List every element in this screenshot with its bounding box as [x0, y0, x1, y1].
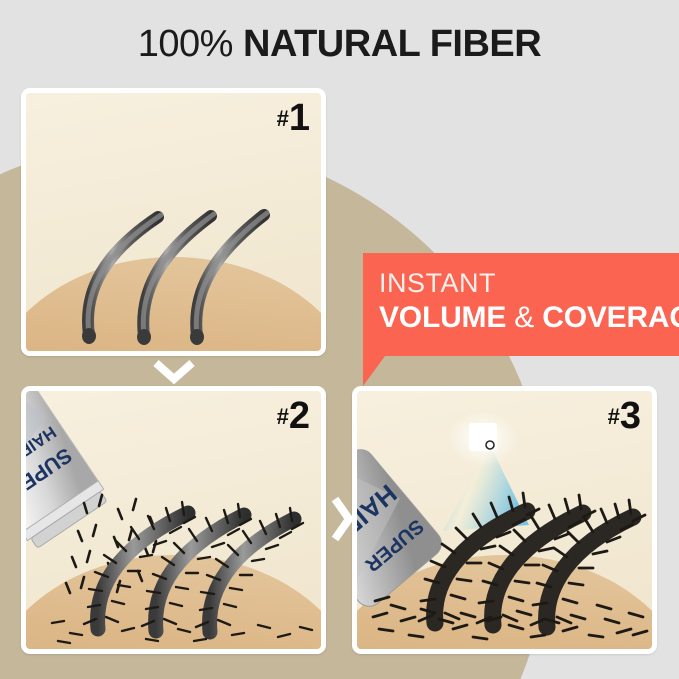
hash-symbol: #: [277, 404, 289, 429]
step-number-2: #2: [277, 397, 309, 435]
callout-banner-tail: [363, 356, 385, 386]
hash-symbol: #: [277, 106, 289, 131]
step-digit: 2: [289, 395, 309, 437]
infographic-root: 100% NATURAL FIBER: [0, 0, 679, 679]
step-digit: 1: [289, 97, 309, 139]
step-number-1: #1: [277, 99, 309, 137]
banner-line-1: INSTANT: [379, 267, 679, 299]
step-panel-3: SUPER HAIR: [352, 386, 657, 654]
hash-symbol: #: [608, 404, 620, 429]
step-panel-2: SUPER MI HAIR: [21, 386, 326, 654]
chevron-right-icon: [330, 495, 354, 543]
step-number-3: #3: [608, 397, 640, 435]
banner-ampersand: &: [514, 301, 534, 334]
banner-coverage: COVERAGE: [542, 301, 679, 334]
banner-volume: VOLUME: [379, 301, 506, 334]
title-main: NATURAL FIBER: [243, 23, 541, 65]
title-prefix: 100%: [138, 23, 233, 65]
callout-banner: INSTANT VOLUME & COVERAGE: [363, 253, 679, 356]
page-title: 100% NATURAL FIBER: [0, 22, 679, 66]
chevron-down-icon: [152, 358, 196, 384]
fiber-bottle: SUPER MI HAIR: [26, 391, 110, 560]
step-digit: 3: [620, 395, 640, 437]
banner-line-2: VOLUME & COVERAGE: [379, 299, 679, 337]
step-panel-1: #1: [21, 88, 326, 356]
